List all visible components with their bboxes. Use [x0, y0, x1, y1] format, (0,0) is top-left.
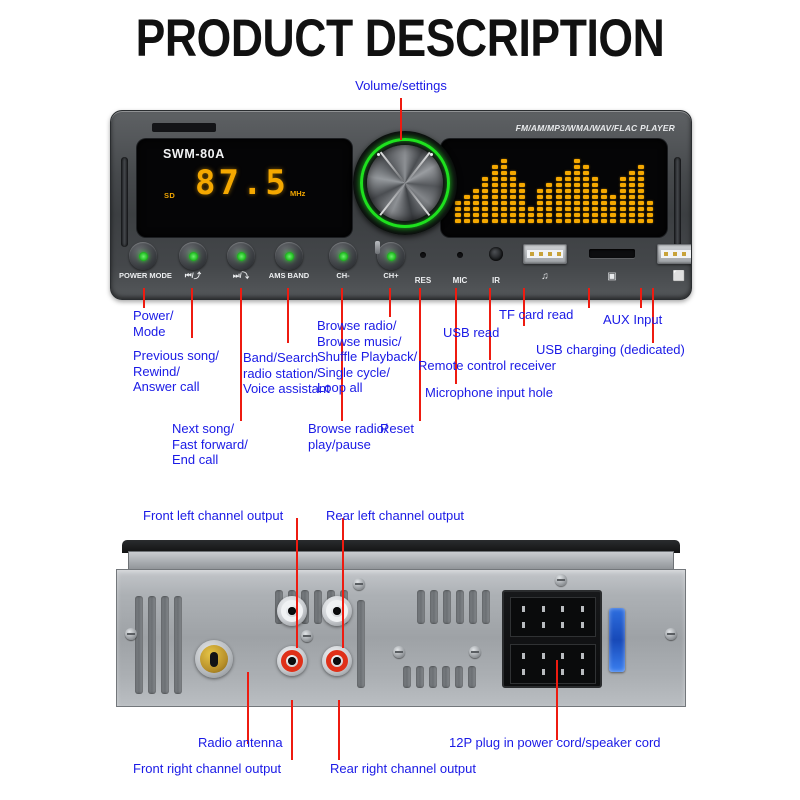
spectrum-segment	[482, 183, 488, 187]
button-power-mode[interactable]	[129, 242, 157, 270]
spectrum-segment	[574, 207, 580, 211]
label-ams-band: AMS BAND	[265, 272, 313, 281]
spectrum-segment	[482, 189, 488, 193]
spectrum-segment	[583, 171, 589, 175]
annotation-rear-right-output: Rear right channel output	[330, 761, 530, 777]
knob-marker-dot	[377, 153, 380, 156]
spectrum-segment	[537, 195, 543, 199]
spectrum-segment	[510, 213, 516, 217]
spectrum-segment	[501, 207, 507, 211]
spectrum-segment	[546, 189, 552, 193]
spectrum-segment	[510, 219, 516, 223]
ir-receiver-icon	[489, 247, 503, 261]
spectrum-segment	[610, 213, 616, 217]
spectrum-segment	[537, 213, 543, 217]
usb-contacts	[527, 250, 563, 258]
spectrum-segment	[574, 201, 580, 205]
annotation-radio-antenna: Radio antenna	[198, 735, 338, 751]
spectrum-segment	[647, 213, 653, 217]
spectrum-segment	[583, 177, 589, 181]
leader-radio-antenna	[247, 672, 249, 744]
spectrum-segment	[501, 177, 507, 181]
knob-spoke	[380, 152, 406, 184]
sd-indicator: SD	[164, 191, 175, 200]
spectrum-segment	[629, 201, 635, 205]
spectrum-segment	[638, 177, 644, 181]
spectrum-segment	[492, 189, 498, 193]
spectrum-segment	[492, 183, 498, 187]
spectrum-segment	[501, 201, 507, 205]
spectrum-segment	[473, 219, 479, 223]
vent-group-left	[135, 596, 182, 694]
usb-charging-port[interactable]	[657, 244, 692, 264]
chassis-screw	[393, 646, 405, 658]
spectrum-segment	[565, 177, 571, 181]
spectrum-segment	[537, 201, 543, 205]
spectrum-bar	[583, 165, 589, 223]
rca-rear-right-output[interactable]	[322, 646, 352, 676]
label-previous: ⏮/⤴	[169, 272, 217, 281]
button-ams-band[interactable]	[275, 242, 303, 270]
spectrum-bar	[492, 165, 498, 223]
spectrum-bar	[473, 189, 479, 223]
spectrum-bar	[455, 201, 461, 223]
spectrum-bar	[510, 171, 516, 223]
spectrum-segment	[620, 195, 626, 199]
label-reset: RES	[403, 276, 443, 285]
knob-spoke	[380, 183, 406, 215]
chassis-screw	[125, 628, 137, 640]
spectrum-segment	[473, 201, 479, 205]
spectrum-segment	[629, 177, 635, 181]
spectrum-segment	[620, 189, 626, 193]
spectrum-bar	[528, 207, 534, 223]
leader-browse-modes	[389, 288, 391, 317]
spectrum-segment	[528, 207, 534, 211]
spectrum-segment	[574, 219, 580, 223]
knob-marker-dot	[430, 153, 433, 156]
spectrum-segment	[510, 177, 516, 181]
left-bezel-slot	[121, 157, 128, 247]
spectrum-bar	[610, 195, 616, 223]
leader-front-right-output	[291, 700, 293, 760]
spectrum-segment	[638, 195, 644, 199]
spectrum-bar	[482, 177, 488, 223]
spectrum-segment	[565, 183, 571, 187]
spectrum-segment	[546, 195, 552, 199]
spectrum-segment	[620, 219, 626, 223]
leader-rear-right-output	[338, 700, 340, 760]
spectrum-segment	[482, 177, 488, 181]
spectrum-segment	[492, 207, 498, 211]
vent-group-center	[357, 600, 365, 688]
spectrum-segment	[482, 213, 488, 217]
spectrum-analyzer	[455, 151, 653, 223]
spectrum-segment	[556, 189, 562, 193]
usb-contacts	[661, 250, 692, 258]
spectrum-segment	[647, 207, 653, 211]
spectrum-segment	[537, 189, 543, 193]
spectrum-segment	[482, 201, 488, 205]
spectrum-segment	[574, 171, 580, 175]
spectrum-segment	[455, 213, 461, 217]
leader-tf-card	[588, 288, 590, 308]
spectrum-segment	[501, 159, 507, 163]
spectrum-bar	[556, 177, 562, 223]
annotation-volume-settings: Volume/settings	[316, 78, 486, 94]
spectrum-segment	[519, 213, 525, 217]
chassis-screw	[353, 578, 365, 590]
tf-card-slot[interactable]	[589, 249, 635, 258]
spectrum-segment	[510, 195, 516, 199]
spectrum-segment	[601, 189, 607, 193]
spectrum-segment	[501, 195, 507, 199]
spectrum-segment	[519, 207, 525, 211]
music-note-icon: ♫	[525, 272, 565, 282]
spectrum-segment	[510, 171, 516, 175]
spectrum-segment	[464, 213, 470, 217]
chassis-screw	[665, 628, 677, 640]
spectrum-segment	[629, 219, 635, 223]
annotation-microphone-hole: Microphone input hole	[425, 385, 635, 401]
spectrum-bar	[501, 159, 507, 223]
leader-band-search	[287, 288, 289, 343]
spectrum-segment	[592, 177, 598, 181]
annotation-front-right-output: Front right channel output	[133, 761, 333, 777]
spectrum-segment	[620, 207, 626, 211]
spectrum-segment	[610, 207, 616, 211]
spectrum-segment	[583, 213, 589, 217]
spectrum-bar	[574, 159, 580, 223]
spectrum-segment	[556, 207, 562, 211]
spectrum-segment	[546, 219, 552, 223]
spectrum-segment	[464, 219, 470, 223]
spectrum-segment	[574, 183, 580, 187]
vent-group-upper-right	[417, 590, 490, 624]
spectrum-segment	[501, 171, 507, 175]
spectrum-segment	[638, 189, 644, 193]
spectrum-segment	[565, 195, 571, 199]
iso-12p-connector[interactable]	[502, 590, 602, 688]
spectrum-segment	[565, 207, 571, 211]
spectrum-segment	[583, 201, 589, 205]
spectrum-segment	[492, 195, 498, 199]
spectrum-segment	[464, 207, 470, 211]
spectrum-segment	[464, 201, 470, 205]
annotation-power-mode: Power/ Mode	[133, 308, 253, 339]
frequency-display: SWM-80A SD 87.5 MHz	[137, 139, 352, 237]
mic-pin-decor	[375, 241, 380, 254]
spectrum-segment	[620, 213, 626, 217]
annotation-usb-charging: USB charging (dedicated)	[536, 342, 736, 358]
spectrum-bar	[629, 171, 635, 223]
spectrum-segment	[601, 213, 607, 217]
annotation-power-speaker-cord: 12P plug in power cord/speaker cord	[449, 735, 749, 751]
spectrum-segment	[546, 207, 552, 211]
spectrum-segment	[519, 219, 525, 223]
spectrum-segment	[638, 183, 644, 187]
spectrum-segment	[592, 219, 598, 223]
knob-spoke	[404, 152, 430, 184]
vent-group-lower-right	[403, 666, 476, 688]
frequency-value: 87.5	[195, 166, 289, 200]
spectrum-bar	[638, 165, 644, 223]
blade-fuse	[609, 608, 625, 672]
annotation-usb-read: USB read	[443, 325, 553, 341]
spectrum-segment	[583, 189, 589, 193]
label-channel-down: CH-	[319, 272, 367, 281]
spectrum-segment	[583, 207, 589, 211]
spectrum-segment	[629, 195, 635, 199]
spectrum-segment	[510, 183, 516, 187]
spectrum-segment	[583, 165, 589, 169]
spectrum-segment	[601, 219, 607, 223]
spectrum-segment	[546, 183, 552, 187]
spectrum-segment	[492, 171, 498, 175]
front-mic-strip	[152, 123, 216, 132]
spectrum-segment	[464, 195, 470, 199]
spectrum-segment	[528, 219, 534, 223]
spectrum-segment	[610, 201, 616, 205]
leader-volume	[400, 98, 402, 140]
label-ir: IR	[476, 276, 516, 285]
chassis-screw	[301, 630, 313, 642]
spectrum-display	[441, 139, 667, 237]
spectrum-segment	[537, 207, 543, 211]
spectrum-segment	[565, 201, 571, 205]
spectrum-segment	[492, 177, 498, 181]
spectrum-segment	[583, 195, 589, 199]
spectrum-segment	[647, 219, 653, 223]
spectrum-segment	[574, 213, 580, 217]
button-previous[interactable]	[179, 242, 207, 270]
leader-rear-left-output	[342, 518, 344, 648]
spectrum-segment	[546, 213, 552, 217]
spectrum-segment	[592, 195, 598, 199]
spectrum-bar	[519, 183, 525, 223]
spectrum-segment	[647, 201, 653, 205]
spectrum-segment	[455, 219, 461, 223]
spectrum-segment	[510, 207, 516, 211]
right-bezel-slot	[674, 157, 681, 247]
spectrum-segment	[556, 177, 562, 181]
spectrum-segment	[610, 219, 616, 223]
rear-top-shelf	[128, 551, 674, 571]
spectrum-segment	[620, 183, 626, 187]
spectrum-segment	[620, 177, 626, 181]
spectrum-segment	[482, 207, 488, 211]
format-support-text: FM/AM/MP3/WMA/WAV/FLAC PLAYER	[516, 123, 675, 133]
label-power-mode: POWER MODE	[119, 272, 167, 281]
spectrum-segment	[501, 165, 507, 169]
spectrum-segment	[601, 207, 607, 211]
spectrum-segment	[556, 213, 562, 217]
rear-panel-unit	[116, 540, 686, 715]
spectrum-segment	[638, 201, 644, 205]
spectrum-segment	[510, 189, 516, 193]
spectrum-segment	[473, 213, 479, 217]
microphone-hole	[457, 252, 463, 258]
spectrum-segment	[629, 213, 635, 217]
spectrum-segment	[592, 201, 598, 205]
spectrum-segment	[546, 201, 552, 205]
spectrum-segment	[519, 183, 525, 187]
spectrum-segment	[455, 207, 461, 211]
rear-chassis	[116, 569, 686, 707]
spectrum-segment	[482, 195, 488, 199]
spectrum-segment	[556, 201, 562, 205]
spectrum-segment	[492, 219, 498, 223]
battery-icon: ⬜	[659, 272, 692, 282]
spectrum-segment	[583, 183, 589, 187]
spectrum-segment	[519, 201, 525, 205]
leader-aux-input	[640, 288, 642, 308]
spectrum-segment	[638, 207, 644, 211]
spectrum-segment	[638, 165, 644, 169]
spectrum-segment	[574, 177, 580, 181]
spectrum-segment	[629, 183, 635, 187]
knob-face	[367, 145, 443, 221]
spectrum-segment	[601, 201, 607, 205]
spectrum-segment	[638, 219, 644, 223]
spectrum-segment	[482, 219, 488, 223]
spectrum-segment	[565, 213, 571, 217]
spectrum-segment	[510, 201, 516, 205]
spectrum-segment	[501, 183, 507, 187]
radio-antenna-jack[interactable]	[195, 640, 233, 678]
knob-spoke	[404, 183, 430, 215]
spectrum-segment	[492, 213, 498, 217]
spectrum-segment	[620, 201, 626, 205]
spectrum-segment	[629, 189, 635, 193]
spectrum-segment	[537, 219, 543, 223]
annotation-reset: Reset	[380, 421, 450, 437]
spectrum-segment	[556, 219, 562, 223]
spectrum-segment	[638, 213, 644, 217]
leader-power-speaker-cord	[556, 660, 558, 740]
annotation-front-left-output: Front left channel output	[143, 508, 323, 524]
spectrum-segment	[574, 159, 580, 163]
spectrum-segment	[501, 219, 507, 223]
spectrum-segment	[473, 189, 479, 193]
spectrum-segment	[592, 213, 598, 217]
annotation-aux-input: AUX Input	[603, 312, 713, 328]
spectrum-segment	[473, 195, 479, 199]
spectrum-bar	[592, 177, 598, 223]
spectrum-segment	[592, 183, 598, 187]
spectrum-segment	[565, 189, 571, 193]
page-title: PRODUCT DESCRIPTION	[64, 8, 736, 69]
annotation-tf-card-read: TF card read	[499, 307, 609, 323]
spectrum-segment	[473, 207, 479, 211]
spectrum-segment	[519, 195, 525, 199]
spectrum-segment	[592, 189, 598, 193]
volume-knob[interactable]	[353, 131, 457, 235]
annotation-remote-receiver: Remote control receiver	[418, 358, 628, 374]
spectrum-bar	[601, 189, 607, 223]
spectrum-bar	[647, 201, 653, 223]
spectrum-segment	[565, 219, 571, 223]
spectrum-segment	[638, 171, 644, 175]
annotation-next-song: Next song/ Fast forward/ End call	[172, 421, 302, 468]
chassis-screw	[555, 574, 567, 586]
iso-lower-row	[510, 644, 596, 684]
spectrum-segment	[583, 219, 589, 223]
spectrum-segment	[574, 189, 580, 193]
spectrum-segment	[556, 183, 562, 187]
label-mic: MIC	[440, 276, 480, 285]
rca-front-left-output[interactable]	[277, 596, 307, 626]
spectrum-segment	[492, 201, 498, 205]
leader-remote	[489, 288, 491, 360]
iso-upper-row	[510, 597, 596, 637]
usb-read-port[interactable]	[523, 244, 567, 264]
button-next[interactable]	[227, 242, 255, 270]
spectrum-segment	[455, 201, 461, 205]
spectrum-segment	[501, 213, 507, 217]
annotation-browse-modes: Browse radio/ Browse music/ Shuffle Play…	[317, 318, 452, 396]
spectrum-segment	[528, 213, 534, 217]
button-channel-up[interactable]	[377, 242, 405, 270]
spectrum-segment	[574, 165, 580, 169]
spectrum-segment	[519, 189, 525, 193]
spectrum-segment	[501, 189, 507, 193]
leader-front-left-output	[296, 518, 298, 648]
annotation-rear-left-output: Rear left channel output	[326, 508, 506, 524]
model-name: SWM-80A	[163, 147, 225, 161]
label-next: ⏭/⤵	[217, 272, 265, 281]
chassis-screw	[469, 646, 481, 658]
spectrum-bar	[620, 177, 626, 223]
spectrum-segment	[592, 207, 598, 211]
rca-front-right-output[interactable]	[277, 646, 307, 676]
spectrum-bar	[546, 183, 552, 223]
spectrum-bar	[464, 195, 470, 223]
leader-power-mode	[143, 288, 145, 308]
spectrum-bar	[565, 171, 571, 223]
spectrum-segment	[601, 195, 607, 199]
button-channel-down[interactable]	[329, 242, 357, 270]
spectrum-segment	[629, 207, 635, 211]
spectrum-segment	[492, 165, 498, 169]
rca-rear-left-output[interactable]	[322, 596, 352, 626]
frequency-unit: MHz	[290, 189, 305, 198]
sd-card-icon: ▣	[592, 272, 632, 282]
spectrum-segment	[610, 195, 616, 199]
spectrum-bar	[537, 189, 543, 223]
reset-hole[interactable]	[420, 252, 426, 258]
spectrum-segment	[629, 171, 635, 175]
spectrum-segment	[556, 195, 562, 199]
spectrum-segment	[565, 171, 571, 175]
spectrum-segment	[574, 195, 580, 199]
